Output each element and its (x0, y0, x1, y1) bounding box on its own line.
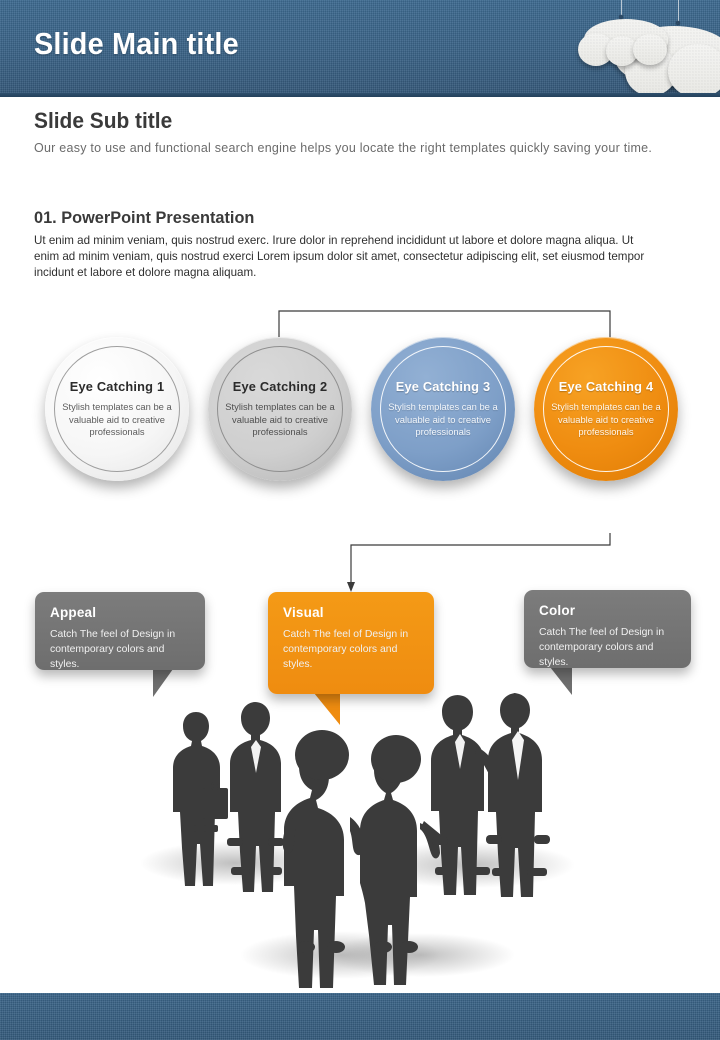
circle-content: Eye Catching 3 Stylish templates can be … (371, 337, 515, 481)
section-body-text: Ut enim ad minim veniam, quis nostrud ex… (34, 233, 659, 282)
cloud-string-left (621, 0, 622, 16)
circle-description: Stylish templates can be a valuable aid … (550, 401, 662, 439)
circle-content: Eye Catching 4 Stylish templates can be … (534, 337, 678, 481)
circle-eye-catching-1[interactable]: Eye Catching 1 Stylish templates can be … (45, 337, 189, 481)
cloud-icon-large-lobe-b (668, 44, 720, 93)
slide-header: Slide Main title (0, 0, 720, 93)
business-people-silhouettes (0, 655, 720, 995)
circle-content: Eye Catching 2 Stylish templates can be … (208, 337, 352, 481)
circle-content: Eye Catching 1 Stylish templates can be … (45, 337, 189, 481)
circle-eye-catching-2[interactable]: Eye Catching 2 Stylish templates can be … (208, 337, 352, 481)
slide-footer (0, 993, 720, 1040)
cloud-string-right (678, 0, 679, 22)
callout-title: Appeal (50, 605, 190, 620)
circle-title: Eye Catching 2 (233, 379, 328, 394)
circle-description: Stylish templates can be a valuable aid … (387, 401, 499, 439)
callout-title: Color (539, 603, 676, 618)
circle-eye-catching-4[interactable]: Eye Catching 4 Stylish templates can be … (534, 337, 678, 481)
header-divider (0, 93, 720, 97)
page-title: Slide Main title (34, 26, 239, 62)
circle-title: Eye Catching 4 (559, 379, 654, 394)
circle-description: Stylish templates can be a valuable aid … (61, 401, 173, 439)
sub-description: Our easy to use and functional search en… (34, 138, 674, 158)
circle-title: Eye Catching 3 (396, 379, 491, 394)
section-title: 01. PowerPoint Presentation (34, 208, 254, 228)
circle-title: Eye Catching 1 (70, 379, 165, 394)
slide-canvas: Slide Main title Slide Sub title Our eas… (0, 0, 720, 1040)
callout-title: Visual (283, 605, 419, 620)
cloud-pin-right (676, 21, 680, 25)
circle-description: Stylish templates can be a valuable aid … (224, 401, 336, 439)
sub-title: Slide Sub title (34, 108, 172, 134)
cloud-icon-small-lobe-c (633, 34, 667, 65)
circle-eye-catching-3[interactable]: Eye Catching 3 Stylish templates can be … (371, 337, 515, 481)
